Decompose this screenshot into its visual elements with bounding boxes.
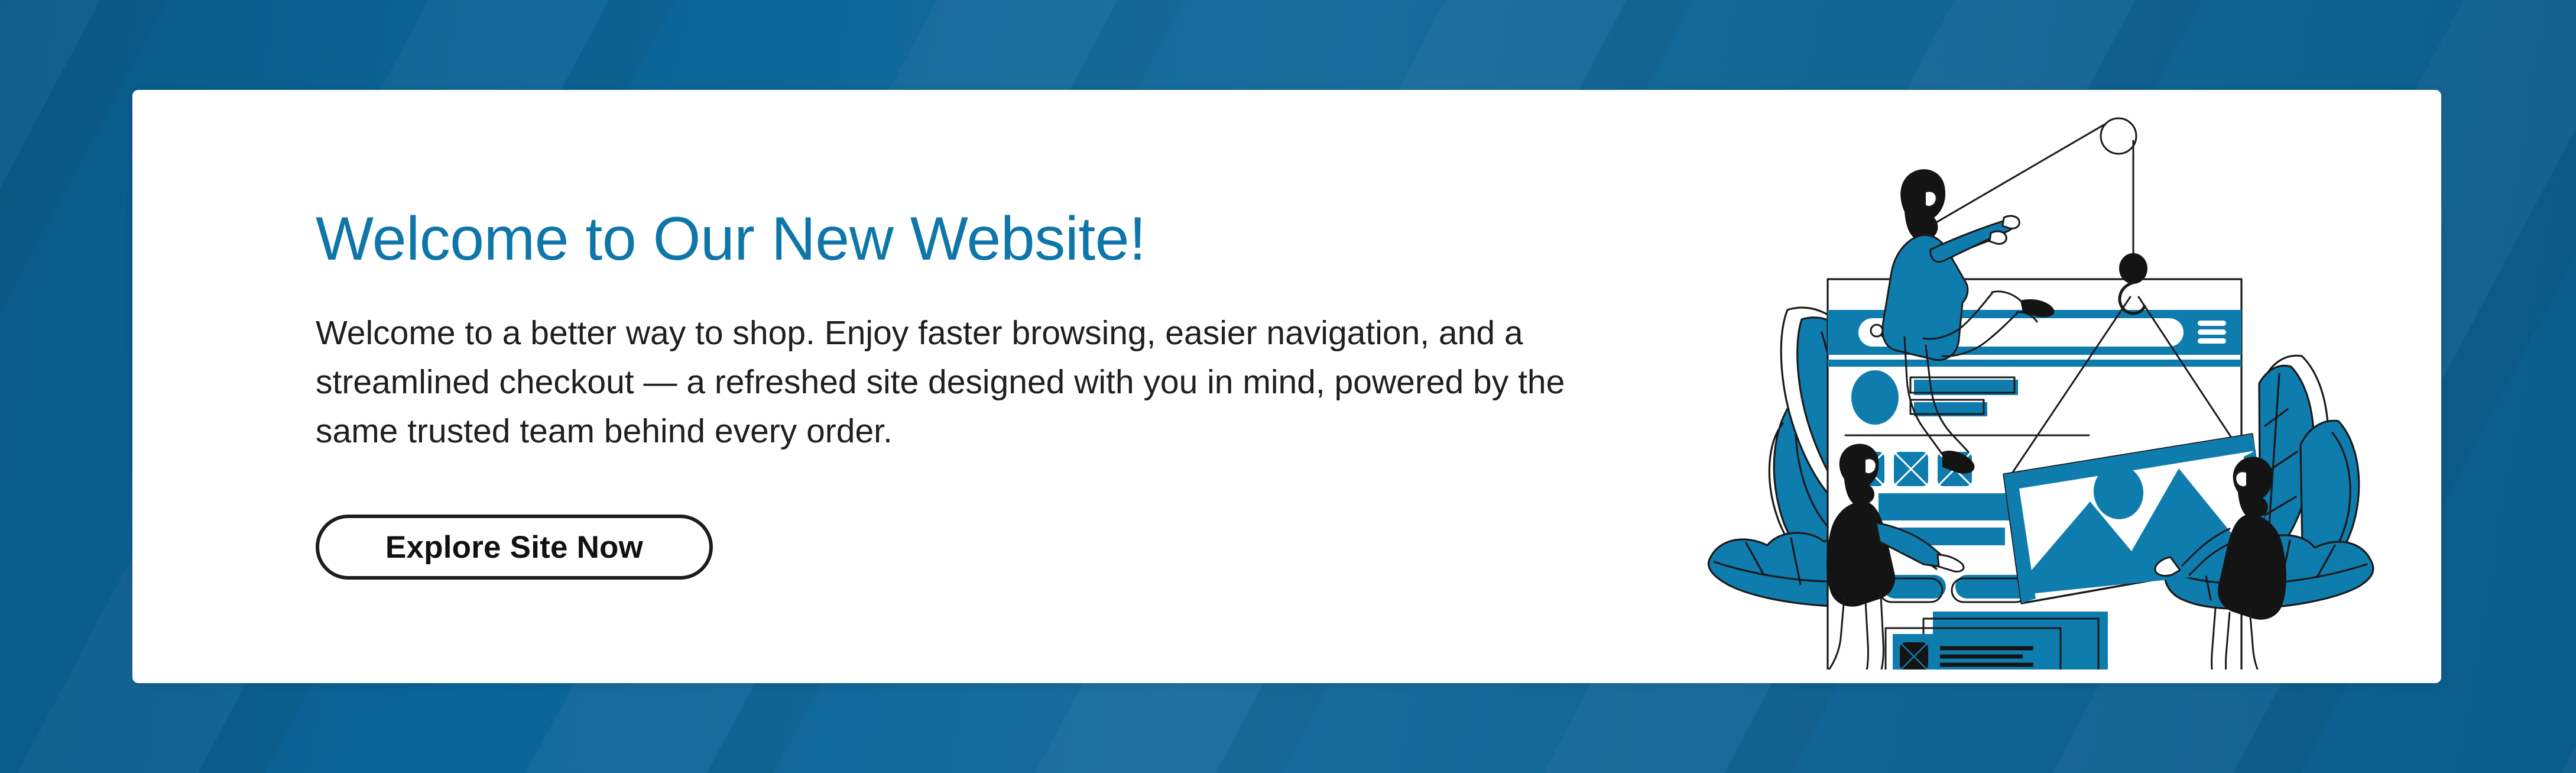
hamburger-menu-icon	[2198, 321, 2226, 344]
hero-card: Welcome to Our New Website! Welcome to a…	[132, 90, 2441, 683]
website-launch-illustration	[1675, 102, 2408, 669]
hero-description: Welcome to a better way to shop. Enjoy f…	[316, 309, 1604, 457]
illustration-svg	[1675, 102, 2408, 669]
cta-container: Explore Site Now	[316, 515, 713, 580]
explore-site-now-button[interactable]: Explore Site Now	[316, 515, 713, 580]
page-title: Welcome to Our New Website!	[316, 208, 1146, 270]
promo-banner: Welcome to Our New Website! Welcome to a…	[0, 0, 2576, 773]
hero-copy-column: Welcome to Our New Website! Welcome to a…	[316, 90, 1663, 683]
